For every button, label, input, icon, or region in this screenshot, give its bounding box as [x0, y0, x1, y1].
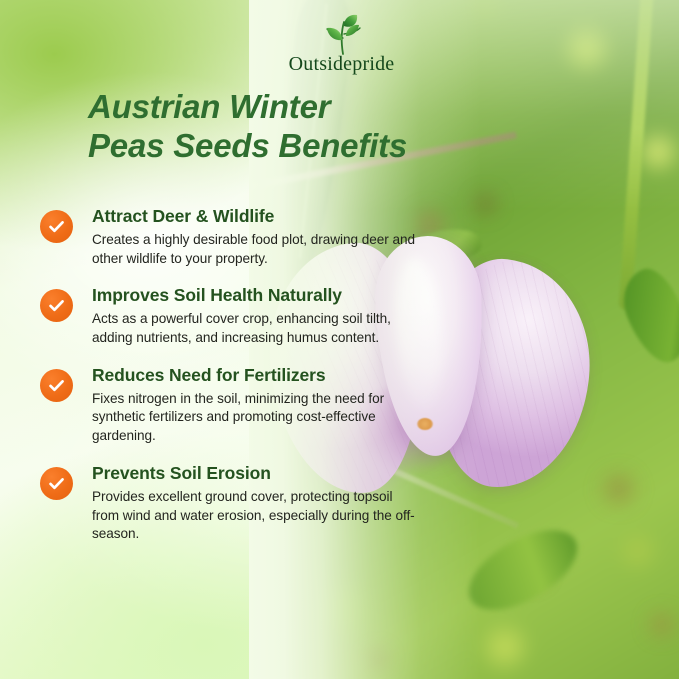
check-glyph: [47, 376, 66, 395]
benefit-title: Reduces Need for Fertilizers: [92, 365, 420, 387]
benefit-item: Improves Soil Health Naturally Acts as a…: [40, 285, 420, 347]
page-title: Austrian Winter Peas Seeds Benefits: [88, 88, 428, 165]
check-glyph: [47, 296, 66, 315]
benefit-item: Attract Deer & Wildlife Creates a highly…: [40, 206, 420, 268]
benefits-list: Attract Deer & Wildlife Creates a highly…: [40, 206, 420, 561]
check-circle-icon: [40, 289, 73, 322]
brand-wordmark: Outsidepride: [289, 53, 395, 76]
benefit-item: Prevents Soil Erosion Provides excellent…: [40, 463, 420, 544]
benefit-title: Attract Deer & Wildlife: [92, 206, 420, 228]
title-line-1: Austrian Winter: [88, 88, 428, 127]
benefit-item: Reduces Need for Fertilizers Fixes nitro…: [40, 365, 420, 446]
leaf-sprig-icon: [307, 14, 377, 56]
check-circle-icon: [40, 467, 73, 500]
benefit-description: Acts as a powerful cover crop, enhancing…: [92, 310, 420, 348]
benefits-poster: Outsidepride Austrian Winter Peas Seeds …: [0, 0, 679, 679]
benefit-title: Prevents Soil Erosion: [92, 463, 420, 485]
benefit-description: Fixes nitrogen in the soil, minimizing t…: [92, 390, 420, 446]
brand-logo: Outsidepride: [0, 14, 679, 76]
check-circle-icon: [40, 210, 73, 243]
title-line-2: Peas Seeds Benefits: [88, 127, 428, 166]
check-circle-icon: [40, 369, 73, 402]
check-glyph: [47, 474, 66, 493]
benefit-title: Improves Soil Health Naturally: [92, 285, 420, 307]
content-layer: Outsidepride Austrian Winter Peas Seeds …: [0, 0, 679, 679]
benefit-description: Creates a highly desirable food plot, dr…: [92, 231, 420, 269]
check-glyph: [47, 217, 66, 236]
benefit-description: Provides excellent ground cover, protect…: [92, 488, 420, 544]
